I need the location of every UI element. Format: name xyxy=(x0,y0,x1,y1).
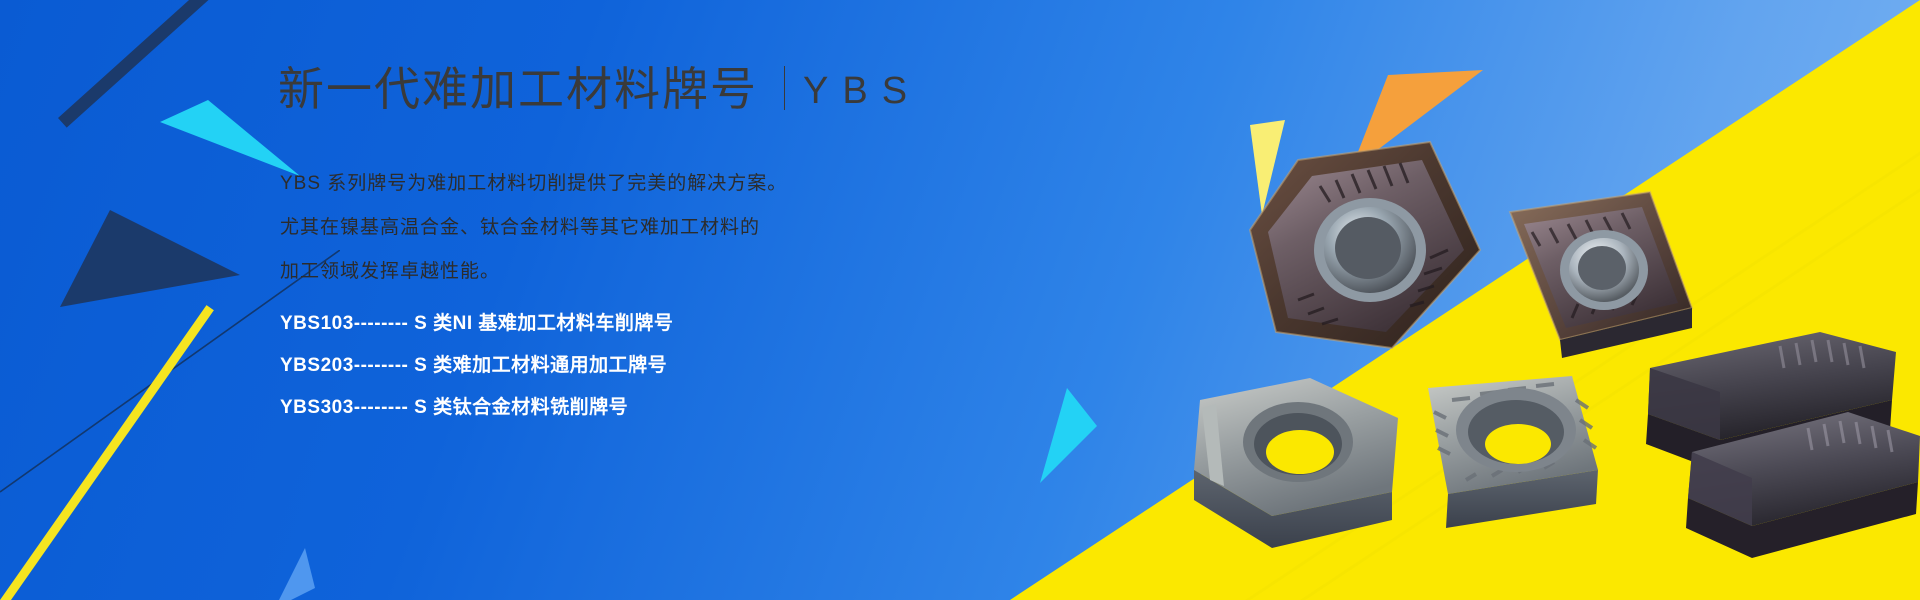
grade-item-ybs303: YBS303-------- S 类钛合金材料铣削牌号 xyxy=(280,387,673,429)
description-line-3: 加工领域发挥卓越性能。 xyxy=(280,250,787,294)
banner-description: YBS 系列牌号为难加工材料切削提供了完美的解决方案。 尤其在镍基高温合金、钛合… xyxy=(280,162,787,294)
description-line-2: 尤其在镍基高温合金、钛合金材料等其它难加工材料的 xyxy=(280,206,787,250)
grade-item-ybs103: YBS103-------- S 类NI 基难加工材料车削牌号 xyxy=(280,303,673,345)
title-chinese: 新一代难加工材料牌号 xyxy=(278,66,758,112)
grade-item-ybs203: YBS203-------- S 类难加工材料通用加工牌号 xyxy=(280,345,673,387)
banner-content: 新一代难加工材料牌号 YBS YBS 系列牌号为难加工材料切削提供了完美的解决方… xyxy=(278,0,1038,600)
grade-list: YBS103-------- S 类NI 基难加工材料车削牌号 YBS203--… xyxy=(280,303,673,429)
hero-banner: 新一代难加工材料牌号 YBS YBS 系列牌号为难加工材料切削提供了完美的解决方… xyxy=(0,0,1920,600)
pale-yellow-triangle-upper xyxy=(1250,120,1300,215)
description-line-1: YBS 系列牌号为难加工材料切削提供了完美的解决方案。 xyxy=(280,162,787,206)
orange-triangle xyxy=(1343,70,1483,170)
title-english: YBS xyxy=(803,72,921,112)
banner-title: 新一代难加工材料牌号 YBS xyxy=(278,66,921,112)
title-divider xyxy=(784,66,785,110)
